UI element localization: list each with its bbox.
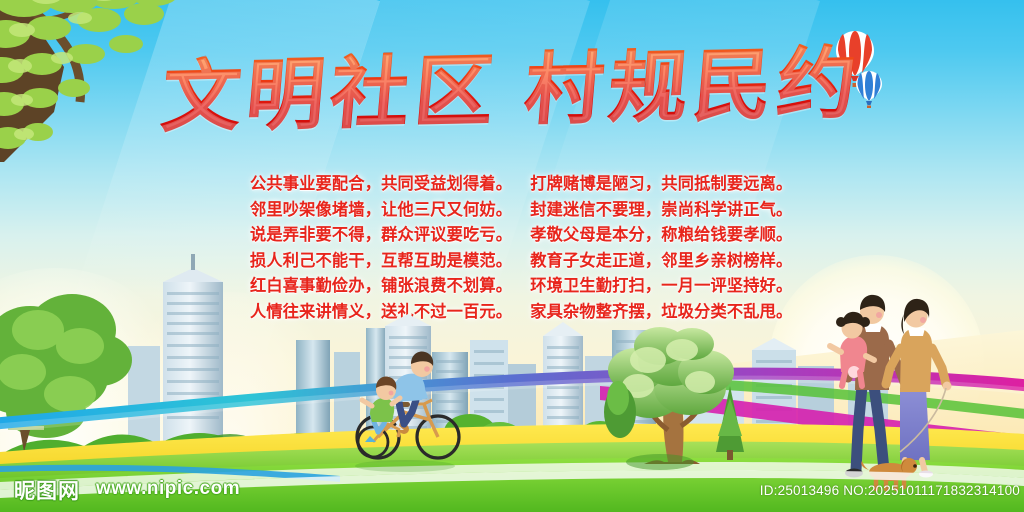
nipic-url: www.nipic.com [96, 478, 240, 500]
poster-canvas: 文明社区村规民约 公共事业要配合，共同受益划得着。 邻里吵架像堵墙，让他三尺又何… [0, 0, 1024, 512]
scene-illustration [0, 0, 1024, 512]
image-id-badge: ID:25013496 NO:20251011171832314100 [760, 483, 1020, 498]
nipic-logo: 昵图网 [14, 475, 80, 505]
